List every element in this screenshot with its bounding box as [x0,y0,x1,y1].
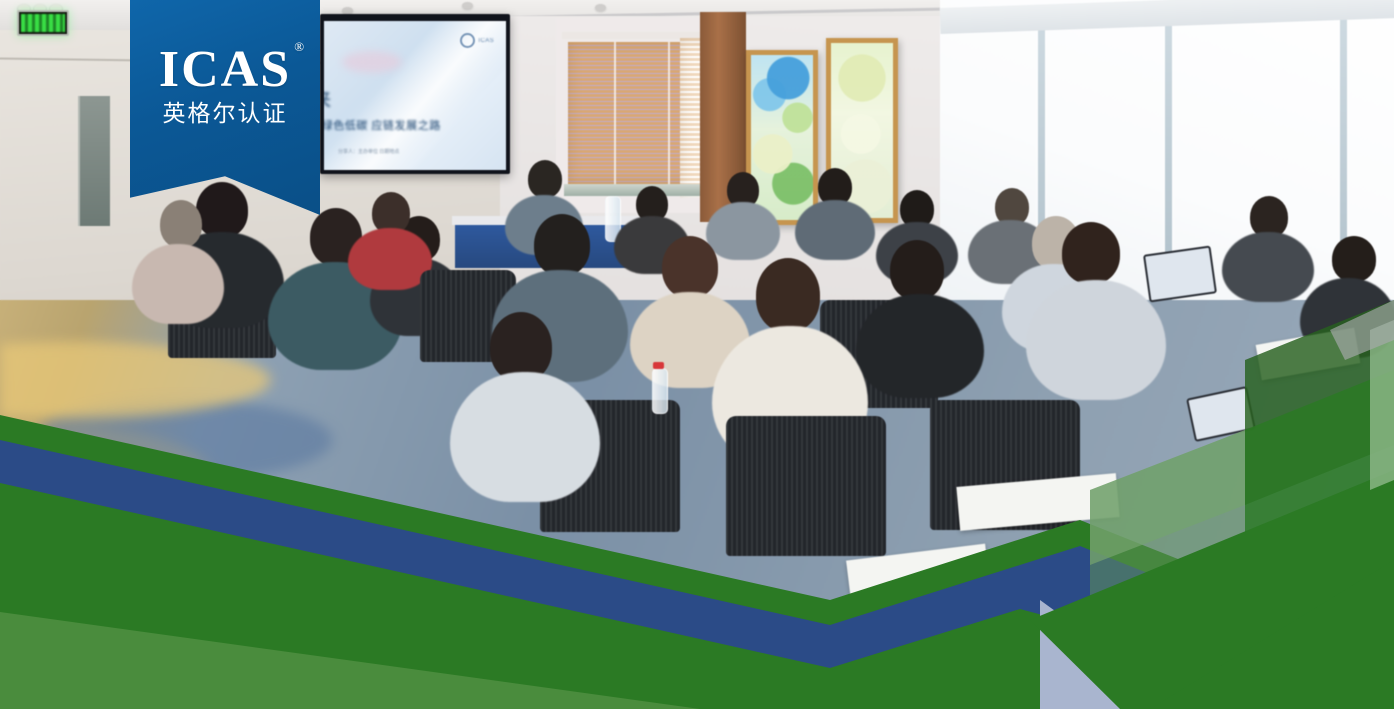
icas-chinese-name: 英格尔认证 [130,103,320,126]
attendee-head [756,258,820,332]
ring-icon [460,33,475,48]
attendee-head [1332,236,1376,282]
slide-subtitle: 与绿色低碳 应链发展之路 [324,117,441,133]
attendee-body [450,372,600,502]
bottle-cap [653,362,664,369]
attendee-body [856,294,984,398]
attendee-head [160,200,202,248]
attendee-body [795,200,875,260]
exit-sign [17,10,69,36]
ceiling-light [595,4,606,11]
icas-wordmark-text: ICAS [159,41,291,98]
slide-footnote: 分享人：主办单位 日期地点 [338,149,399,157]
office-chair [726,416,886,556]
blind-cord [614,42,616,184]
attendee-head [1062,222,1120,284]
tablet-device [1143,246,1217,303]
attendee-body [706,202,780,260]
exit-sign-glow [21,14,65,32]
registered-trademark-icon: ® [294,40,306,53]
attendee-body [1222,232,1314,302]
projector-screen: ICAS 来 与绿色低碳 应链发展之路 分享人：主办单位 日期地点 [320,14,510,174]
blind-cord [668,42,670,184]
attendee-head [534,214,590,276]
slide-logo-text: ICAS [478,38,494,44]
attendee-head [196,182,248,238]
icas-logo: ICAS ® 英格尔认证 [130,44,320,126]
door-frame [78,96,110,226]
attendee-head [890,240,944,300]
icas-wordmark: ICAS ® [159,44,291,96]
ceiling-light [462,2,473,9]
banner-canvas: ICAS 来 与绿色低碳 应链发展之路 分享人：主办单位 日期地点 [0,0,1394,709]
water-bottle [652,368,668,414]
attendee-head [662,236,718,298]
attendee-body [132,244,224,324]
attendee-body [1026,280,1166,400]
slide-logo: ICAS [460,33,494,48]
slide-title: 来 [324,85,331,112]
smoke-detector [342,7,353,14]
slide-highlight [342,51,402,73]
projector-screen-surface: ICAS 来 与绿色低碳 应链发展之路 分享人：主办单位 日期地点 [324,21,506,170]
attendee-head [528,160,562,198]
